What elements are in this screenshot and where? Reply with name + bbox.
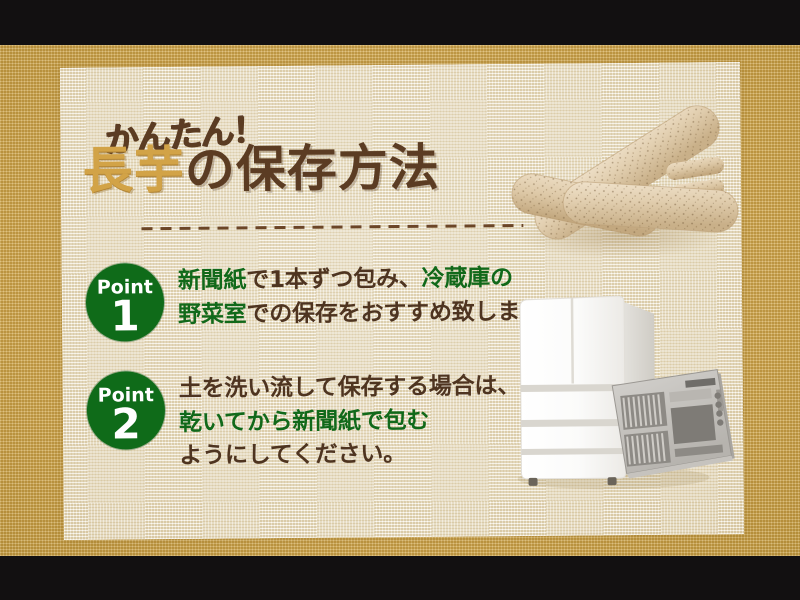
point-1-line-1: 新聞紙で1本ずつ包み、冷蔵庫の bbox=[178, 262, 558, 299]
point-1-l1-seg-1: 新聞紙 bbox=[178, 267, 247, 294]
fridge-newspaper-illustration bbox=[502, 287, 739, 499]
point-1-l2-seg-1: 野菜室 bbox=[178, 301, 247, 328]
point-badge-1: Point 1 bbox=[86, 263, 165, 342]
nagaimo-yam-photo bbox=[492, 84, 744, 271]
page-title: 長芋の保存方法 bbox=[83, 143, 440, 196]
point-2-l1-seg-1: 土を洗い流して保存する場合は、 bbox=[179, 373, 521, 402]
cream-panel: かんたん！ 長芋の保存方法 bbox=[60, 62, 744, 540]
point-badge-number-1: 1 bbox=[86, 295, 164, 338]
point-badge-number-2: 2 bbox=[87, 403, 165, 446]
poster-stage: かんたん！ 長芋の保存方法 bbox=[0, 0, 800, 600]
point-1-l1-seg-2: で1本ずつ包み、 bbox=[246, 266, 422, 294]
title-dashed-divider bbox=[141, 224, 523, 230]
burlap-background: かんたん！ 長芋の保存方法 bbox=[0, 45, 800, 556]
point-row-2: Point 2 土を洗い流して保存する場合は、 乾いてから新聞紙で包む ようにし… bbox=[87, 368, 557, 372]
point-2-l3-seg-1: ようにしてください。 bbox=[179, 441, 406, 469]
point-badge-2: Point 2 bbox=[87, 371, 166, 450]
point-1-l1-seg-3: 冷蔵庫の bbox=[422, 265, 513, 292]
yam-illustration bbox=[492, 84, 744, 271]
fridge-newspaper-svg bbox=[502, 287, 739, 499]
title-brown-part: の保存方法 bbox=[185, 139, 440, 199]
point-2-l2-seg-1: 乾いてから新聞紙で包む bbox=[179, 407, 429, 435]
letterbox-top bbox=[0, 0, 800, 45]
panel-content: かんたん！ 長芋の保存方法 bbox=[60, 62, 744, 540]
letterbox-bottom bbox=[0, 556, 800, 600]
title-gold-part: 長芋 bbox=[83, 141, 186, 200]
point-row-1: Point 1 新聞紙で1本ずつ包み、冷蔵庫の 野菜室での保存をおすすめ致します… bbox=[86, 260, 556, 264]
title-block: かんたん！ 長芋の保存方法 bbox=[82, 104, 552, 108]
